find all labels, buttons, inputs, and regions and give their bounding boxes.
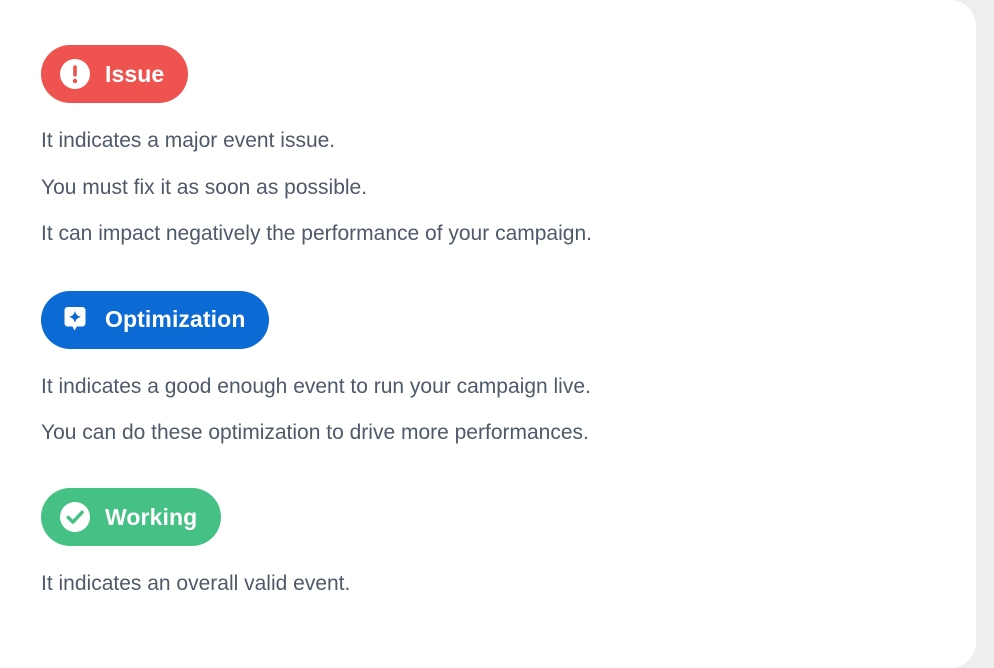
legend-section-issue: Issue It indicates a major event issue. … — [41, 45, 976, 247]
status-badge-issue-label: Issue — [105, 63, 164, 86]
optimization-description-line-2: You can do these optimization to drive m… — [41, 420, 976, 446]
spacer — [41, 399, 976, 420]
legend-section-optimization: Optimization It indicates a good enough … — [41, 291, 976, 446]
working-description-line-1: It indicates an overall valid event. — [41, 571, 976, 597]
optimization-description-list: It indicates a good enough event to run … — [41, 374, 976, 446]
working-description-list: It indicates an overall valid event. — [41, 571, 976, 597]
issue-description-line-1: It indicates a major event issue. — [41, 128, 976, 154]
spacer — [41, 103, 976, 128]
optimization-description-line-1: It indicates a good enough event to run … — [41, 374, 976, 400]
spacer — [41, 154, 976, 175]
issue-description-line-3: It can impact negatively the performance… — [41, 221, 976, 247]
status-badge-optimization-label: Optimization — [105, 308, 245, 331]
spacer — [41, 200, 976, 221]
sparkle-bubble-icon — [58, 303, 92, 337]
issue-description-list: It indicates a major event issue. You mu… — [41, 128, 976, 247]
spacer — [41, 349, 976, 374]
status-legend-card: Issue It indicates a major event issue. … — [0, 0, 976, 668]
status-badge-issue[interactable]: Issue — [41, 45, 188, 103]
status-badge-working[interactable]: Working — [41, 488, 221, 546]
status-badge-working-label: Working — [105, 506, 197, 529]
exclamation-circle-icon — [58, 57, 92, 91]
legend-section-working: Working It indicates an overall valid ev… — [41, 488, 976, 597]
issue-description-line-2: You must fix it as soon as possible. — [41, 175, 976, 201]
check-circle-icon — [58, 500, 92, 534]
spacer — [41, 446, 976, 488]
spacer — [41, 546, 976, 571]
status-badge-optimization[interactable]: Optimization — [41, 291, 269, 349]
spacer — [41, 247, 976, 291]
